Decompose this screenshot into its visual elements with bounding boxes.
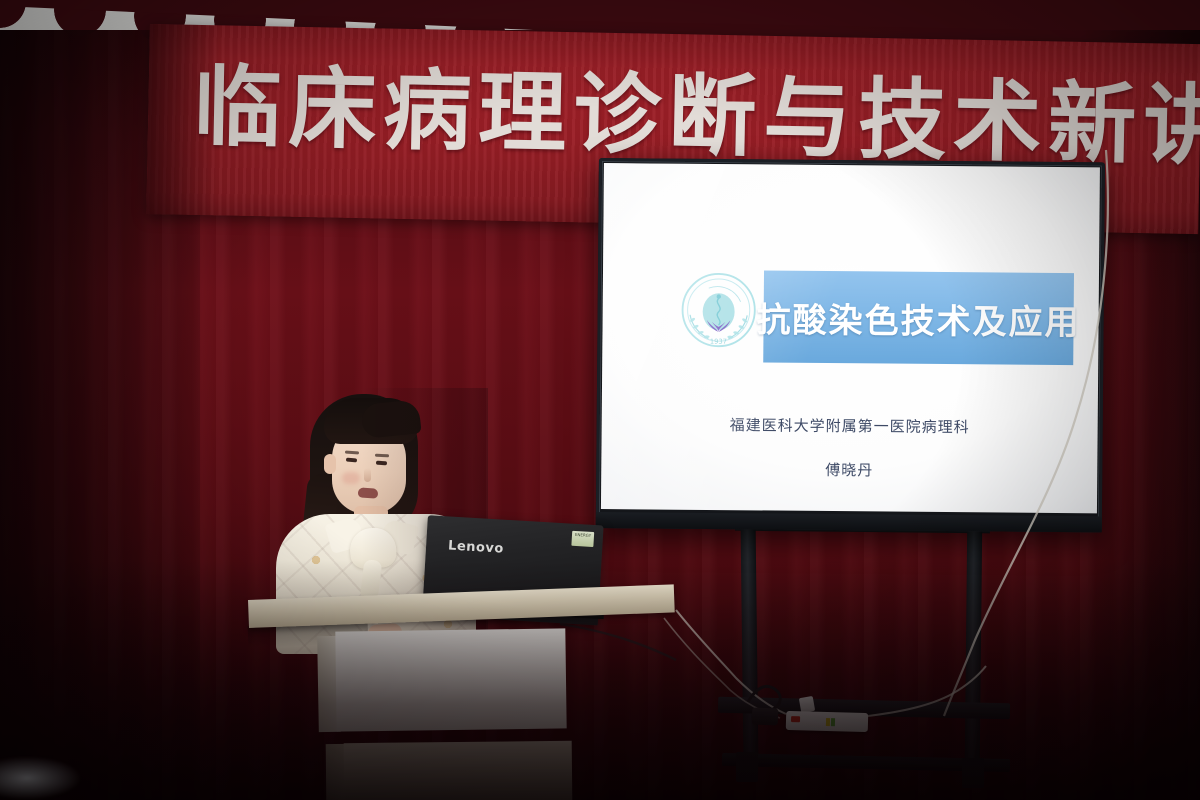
slide-screen: 1937 抗酸染色技术及应用 福建医科大学附属第一医院病理科 傅晓丹: [601, 163, 1100, 513]
slide-author: 傅晓丹: [601, 457, 1097, 482]
mouth: [358, 487, 379, 498]
laptop-brand-logo: Lenovo: [448, 538, 504, 556]
floor-object: [0, 756, 82, 800]
laptop-sticker: ENERGY: [571, 531, 594, 547]
cheek: [342, 472, 360, 484]
svg-text:1937: 1937: [710, 338, 727, 346]
ear: [324, 454, 336, 474]
eye-left: [346, 458, 357, 463]
eye-right: [376, 461, 387, 466]
presentation-photo-scene: 临床病理诊断与技术新讲展学习: [0, 0, 1200, 800]
nose: [364, 468, 371, 482]
bangs-sweep: [360, 399, 421, 439]
slide-title-box: 抗酸染色技术及应用: [763, 270, 1074, 365]
flat-panel-display: 1937 抗酸染色技术及应用 福建医科大学附属第一医院病理科 傅晓丹: [596, 158, 1105, 532]
slide-organization: 福建医科大学附属第一医院病理科: [602, 413, 1098, 438]
floor-shadow: [0, 560, 1200, 800]
slide-title: 抗酸染色技术及应用: [756, 292, 1080, 344]
university-emblem-icon: 1937: [676, 268, 761, 353]
